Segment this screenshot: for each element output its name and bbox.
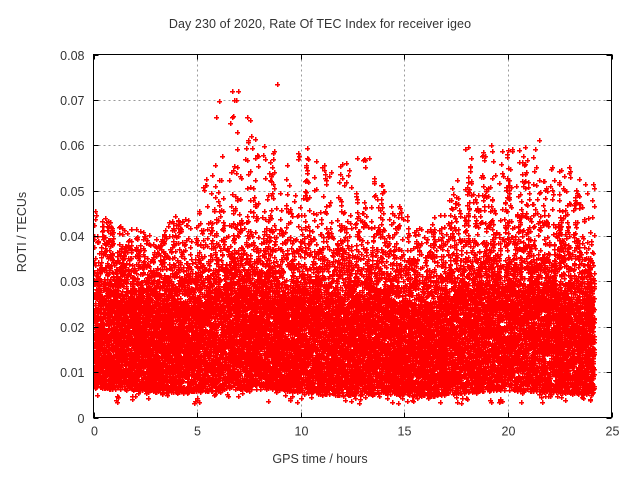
svg-text:0.01: 0.01 [60, 366, 84, 380]
svg-text:0.07: 0.07 [60, 94, 84, 108]
chart-figure: Day 230 of 2020, Rate Of TEC Index for r… [0, 0, 640, 480]
svg-text:0.02: 0.02 [60, 321, 84, 335]
svg-text:5: 5 [194, 425, 201, 439]
svg-text:10: 10 [295, 425, 309, 439]
svg-text:0: 0 [78, 412, 85, 426]
svg-text:0.05: 0.05 [60, 185, 84, 199]
svg-text:25: 25 [606, 425, 620, 439]
svg-text:0.06: 0.06 [60, 139, 84, 153]
svg-text:0.04: 0.04 [60, 230, 84, 244]
svg-text:0: 0 [91, 425, 98, 439]
plot-canvas: 00.010.020.030.040.050.060.070.080510152… [0, 0, 640, 480]
svg-text:15: 15 [398, 425, 412, 439]
svg-text:20: 20 [502, 425, 516, 439]
svg-text:0.03: 0.03 [60, 275, 84, 289]
svg-text:0.08: 0.08 [60, 49, 84, 63]
scatter-points [92, 82, 597, 406]
